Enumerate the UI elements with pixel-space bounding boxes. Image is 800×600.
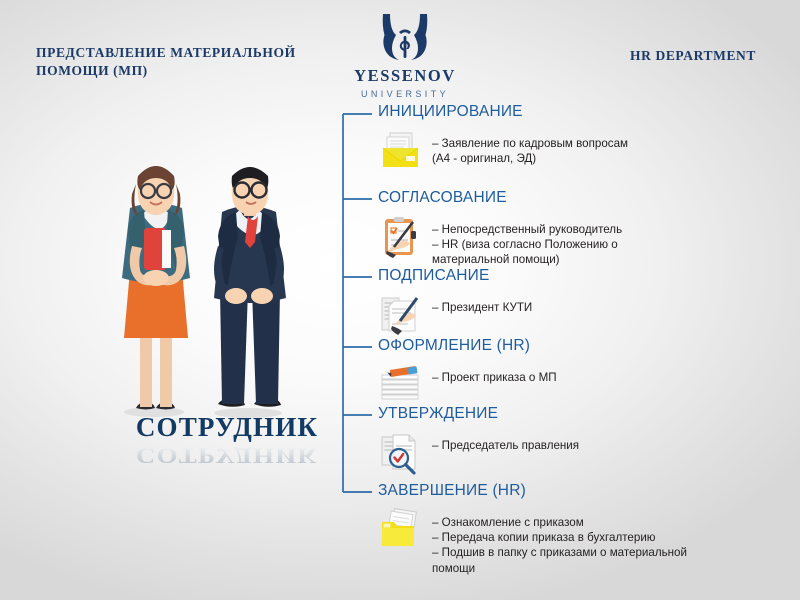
process-step-4: ОФОРМЛЕНИЕ (HR) – Проект при: [378, 338, 557, 407]
step-title: УТВЕРЖДЕНИЕ: [378, 406, 579, 422]
woman-figure: [122, 166, 190, 410]
employee-illustration: [96, 150, 336, 420]
step-detail-lines: – Председатель правления: [432, 431, 579, 453]
step-title: ИНИЦИИРОВАНИЕ: [378, 104, 628, 120]
process-step-1: ИНИЦИИРОВАНИЕ: [378, 104, 628, 173]
step-title: ОФОРМЛЕНИЕ (HR): [378, 338, 557, 354]
department-label: HR DEPARTMENT: [630, 48, 756, 64]
employee-label-reflection: СОТРУДНИК: [112, 444, 342, 466]
step-title: СОГЛАСОВАНИЕ: [378, 190, 622, 206]
step-detail-lines: – Президент КУТИ: [432, 293, 532, 315]
yellow-folder-documents-icon: [378, 508, 424, 552]
step-detail-lines: – Непосредственный руководитель – HR (ви…: [432, 215, 622, 268]
stack-of-papers-with-pen-icon: [378, 363, 424, 407]
step-detail-lines: – Заявление по кадровым вопросам (А4 - о…: [432, 129, 628, 167]
logo-subtitle: UNIVERSITY: [335, 89, 475, 99]
step-title: ПОДПИСАНИЕ: [378, 268, 532, 284]
process-step-6: ЗАВЕРШЕНИЕ (HR): [378, 483, 687, 576]
yessenov-y-mark-icon: [377, 12, 433, 64]
process-step-3: ПОДПИСАНИЕ: [378, 268, 532, 337]
step-detail-lines: – Проект приказа о МП: [432, 363, 557, 385]
step-detail-lines: – Ознакомление с приказом – Передача коп…: [432, 508, 687, 577]
step-title: ЗАВЕРШЕНИЕ (HR): [378, 483, 687, 499]
hand-signing-document-icon: [378, 293, 424, 337]
envelope-with-documents-icon: [378, 129, 424, 173]
page-title: ПРЕДСТАВЛЕНИЕ МАТЕРИАЛЬНОЙ ПОМОЩИ (МП): [36, 44, 356, 80]
process-step-5: УТВЕРЖДЕНИЕ: [378, 406, 579, 475]
documents-magnifier-check-icon: [378, 431, 424, 475]
logo-name: YESSENOV: [335, 66, 475, 86]
process-step-2: СОГЛАСОВАНИЕ: [378, 190, 622, 268]
employee-label: СОТРУДНИК: [112, 414, 342, 441]
university-logo: YESSENOV UNIVERSITY: [335, 12, 475, 99]
slide-canvas: ПРЕДСТАВЛЕНИЕ МАТЕРИАЛЬНОЙ ПОМОЩИ (МП) H…: [0, 0, 800, 600]
man-figure: [214, 167, 286, 407]
clipboard-checklist-hand-icon: [378, 215, 424, 259]
